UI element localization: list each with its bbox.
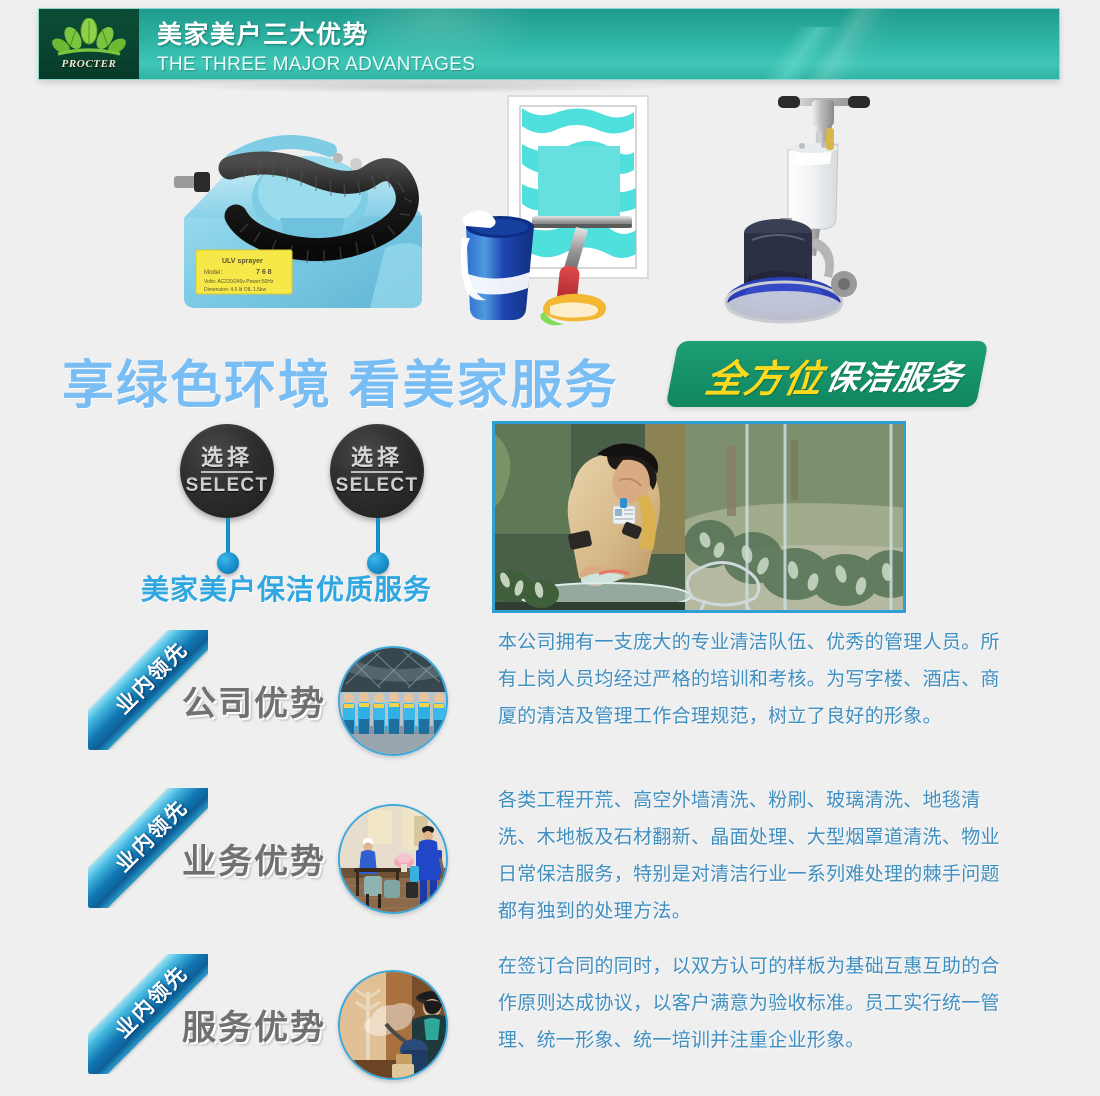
product-floor-polisher xyxy=(720,88,925,333)
thumb-1-illustration xyxy=(340,648,448,756)
window-squeegee-bucket-illustration xyxy=(450,88,680,338)
advantage-title: 业务优势 xyxy=(182,834,326,883)
interior-cleaning-photo xyxy=(338,804,448,914)
header-diagonal-streak xyxy=(709,27,889,80)
advantage-description: 各类工程开荒、高空外墙清洗、粉刷、玻璃清洗、地毯清洗、木地板及石材翻新、晶面处理… xyxy=(498,782,1018,930)
green-banner-text: 全方位 保洁服务 xyxy=(685,349,985,401)
product-showcase-row: ULV sprayer Model： 7 6 8 Volts: AC220/24… xyxy=(0,88,1100,343)
header-title-cn: 美家美户三大优势 xyxy=(157,15,475,51)
select-circle[interactable]: 选择 SELECT xyxy=(330,424,424,518)
header-title-en: THE THREE MAJOR ADVANTAGES xyxy=(157,54,475,76)
banner-highlight-text: 全方位 xyxy=(702,348,830,403)
page-header: PROCTER 美家美户三大优势 THE THREE MAJOR ADVANTA… xyxy=(38,8,1060,80)
page-root: PROCTER 美家美户三大优势 THE THREE MAJOR ADVANTA… xyxy=(0,0,1100,1096)
worker-cleaning-glass-table-photo xyxy=(492,421,906,613)
thumb-2-illustration xyxy=(340,806,448,914)
product-window-cleaning-set xyxy=(450,88,680,338)
ulv-sprayer-illustration: ULV sprayer Model： 7 6 8 Volts: AC220/24… xyxy=(160,98,460,333)
select-caption-1: 美家美户保洁 xyxy=(141,568,315,608)
select-label-en: SELECT xyxy=(336,475,419,497)
green-leaves-crown-icon xyxy=(52,18,126,60)
svg-text:Volts: AC220/240v Power:50Hz: Volts: AC220/240v Power:50Hz xyxy=(204,279,274,285)
svg-text:Model：: Model： xyxy=(204,270,226,276)
advantage-row-business: 业内领先 业务优势 xyxy=(0,786,1100,936)
select-circle[interactable]: 选择 SELECT xyxy=(180,424,274,518)
floor-polisher-illustration xyxy=(720,88,925,333)
select-label-en: SELECT xyxy=(186,475,269,497)
thumb-3-illustration xyxy=(340,972,448,1080)
hero-photo-illustration xyxy=(495,424,906,613)
header-text-group: 美家美户三大优势 THE THREE MAJOR ADVANTAGES xyxy=(157,15,475,76)
select-badge-2[interactable]: 选择 SELECT xyxy=(330,424,424,518)
main-slogan: 享绿色环境 看美家服务 xyxy=(62,343,618,418)
brand-logo-text: PROCTER xyxy=(62,58,117,70)
advantage-description: 在签订合同的同时，以双方认可的样板为基础互惠互助的合作原则达成协议，以客户满意为… xyxy=(498,948,1018,1059)
staff-team-lineup-photo xyxy=(338,646,448,756)
advantage-description: 本公司拥有一支庞大的专业清洁队伍、优秀的管理人员。所有上岗人员均经过严格的培训和… xyxy=(498,624,1018,735)
advantage-row-service: 业内领先 服务优势 xyxy=(0,952,1100,1096)
select-badge-1[interactable]: 选择 SELECT xyxy=(180,424,274,518)
worker-spraying-wall-photo xyxy=(338,970,448,1080)
banner-rest-text: 保洁服务 xyxy=(822,351,967,399)
header-bar: PROCTER 美家美户三大优势 THE THREE MAJOR ADVANTA… xyxy=(38,8,1060,80)
advantage-row-company: 业内领先 公司优势 xyxy=(0,628,1100,778)
svg-text:ULV sprayer: ULV sprayer xyxy=(222,258,263,265)
product-ulv-sprayer: ULV sprayer Model： 7 6 8 Volts: AC220/24… xyxy=(160,98,460,333)
select-label-cn: 选择 xyxy=(351,445,403,473)
advantage-title: 服务优势 xyxy=(182,1000,326,1049)
select-caption-2: 优质服务 xyxy=(316,568,432,608)
advantage-title: 公司优势 xyxy=(182,676,326,725)
brand-logo: PROCTER xyxy=(39,9,139,79)
svg-text:7 6 8: 7 6 8 xyxy=(256,269,272,276)
svg-text:Dimension: 4.5 lit OIL 1.5k: Dimension: 4.5 lit OIL 1.5kw xyxy=(204,287,266,293)
select-label-cn: 选择 xyxy=(201,445,253,473)
